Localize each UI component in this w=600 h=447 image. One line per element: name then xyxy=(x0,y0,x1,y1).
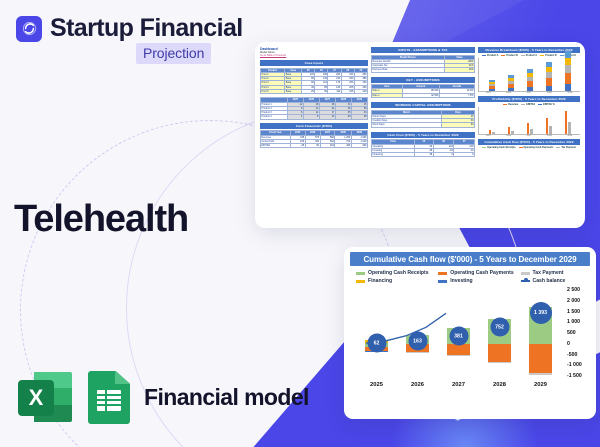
bar xyxy=(546,118,552,134)
revenue-chart-bars xyxy=(478,58,580,92)
chart-x-axis: 2025 2026 2027 2028 2029 xyxy=(356,382,561,388)
legend-item-tax-payment: Tax Payment xyxy=(521,270,588,276)
x-tick: 2028 xyxy=(480,382,519,388)
cumulative-mini-legend: Operating Cash Receipts Operating Cash P… xyxy=(478,146,580,149)
segment-tax-payment xyxy=(488,362,511,363)
table-row: Rate 242 5007.5% xyxy=(372,93,475,97)
data-label-2025: 62 xyxy=(367,334,386,353)
cash-balance-line xyxy=(356,287,456,379)
panel-title-cash-flow-statement: Cash Flow ($'000) - 5 Years to December … xyxy=(371,132,475,138)
cumulative-cashflow-card: Cumulative Cash flow ($'000) - 5 Years t… xyxy=(344,247,596,419)
legend-item-investing: Investing xyxy=(438,278,520,284)
brand-name: Startup Financial xyxy=(50,14,243,43)
y-tick: 2 000 xyxy=(567,298,590,304)
promo-slide: Startup Financial Projection Telehealth … xyxy=(0,0,600,447)
brand-lockup: Startup Financial xyxy=(16,14,243,43)
table-row: Discount Rate12% xyxy=(372,68,475,72)
legend-item-cash-balance: Cash balance xyxy=(521,278,588,284)
table-row: EBITDA-2560210430690 xyxy=(261,144,368,148)
segment-operating-payments xyxy=(529,344,552,372)
working-capital-table: MetricDays Debtor Days45 Creditor Days30… xyxy=(371,110,475,128)
panel-title-working-capital: WORKING CAPITAL ASSUMPTIONS xyxy=(371,102,475,108)
key-assumptions-table: ItemAmountGrowth Rate 185 00010.0% Rate … xyxy=(371,84,475,98)
footer-label: Financial model xyxy=(144,384,309,411)
y-tick: 1 000 xyxy=(567,319,590,325)
legend-item: Tax Payment xyxy=(556,146,576,149)
google-sheets-icon xyxy=(86,368,132,426)
legend-item: Product D xyxy=(540,54,556,57)
bar xyxy=(546,62,552,91)
x-tick: 2027 xyxy=(439,382,478,388)
legend-item: Product B xyxy=(501,54,517,57)
bar xyxy=(489,130,495,134)
legend-item-operating-cash-receipts: Operating Cash Receipts xyxy=(356,270,438,276)
bar xyxy=(508,75,514,91)
toc-link[interactable]: Go to Table of Contents xyxy=(260,54,368,57)
y-tick: 1 500 xyxy=(567,309,590,315)
inputs-table: ProductCase2526272829 Prod 1Base12018026… xyxy=(260,68,368,95)
microsoft-excel-icon: X xyxy=(16,368,74,426)
legend-item: Product C xyxy=(521,54,537,57)
profitability-chart: Profitability ($'000) - 5 Years to Decem… xyxy=(478,96,580,137)
legend-item-operating-cash-payments: Operating Cash Payments xyxy=(438,270,520,276)
x-tick: 2026 xyxy=(398,382,437,388)
y-tick: -500 xyxy=(567,352,590,358)
profitability-chart-xaxis: 20252026 20272028 2029 xyxy=(478,135,580,137)
bar xyxy=(527,123,533,134)
panel-title-case-inputs: Case Inputs xyxy=(260,60,368,66)
bar xyxy=(489,80,495,91)
x-tick: 2029 xyxy=(521,382,560,388)
format-icons-row: X Financial model xyxy=(16,368,309,426)
legend-item: Operating Cash Receipts xyxy=(482,146,515,149)
data-label-2029: 1 393 xyxy=(530,302,552,324)
panel-title-profitability: Profitability ($'000) - 5 Years to Decem… xyxy=(478,96,580,102)
y-tick: -1 500 xyxy=(567,373,590,379)
bar xyxy=(508,127,514,134)
table-row: Financing9500 xyxy=(372,153,475,157)
chart-title: Cumulative Cash flow ($'000) - 5 Years t… xyxy=(350,252,590,266)
panel-title-inputs-assumptions: INPUTS - ASSUMPTIONS & TAX xyxy=(371,47,475,53)
cash-financials-table: Fiscal Year20252026202720282029 Revenue3… xyxy=(260,130,368,148)
legend-item: Operating Cash Payments xyxy=(519,146,554,149)
panel-title-key-assumptions: KEY - ASSUMPTIONS xyxy=(371,77,475,83)
data-label-2026: 163 xyxy=(408,332,427,351)
legend-item: Product A xyxy=(482,54,498,57)
chart-legend: Operating Cash Receipts Operating Cash P… xyxy=(356,270,588,284)
chart-y-axis: 2 500 2 000 1 500 1 000 500 0 -500 -1 00… xyxy=(564,287,590,379)
y-tick: 0 xyxy=(567,341,590,347)
y-tick: -1 000 xyxy=(567,362,590,368)
legend-item: EBITDA % xyxy=(538,103,555,106)
revenue-breakdown-chart: Revenue Breakdown ($'000) - 5 Years to D… xyxy=(478,47,580,94)
data-label-2028: 752 xyxy=(490,318,509,337)
cashflow-mini-table: Flow252627 Operating62101218 Investing-4… xyxy=(371,139,475,157)
cumulative-cashflow-mini-chart: Cumulative Cash flow ($'000) - 5 Years t… xyxy=(478,139,580,150)
assumptions-table: Model DriversValue Revenue Growth+28% Co… xyxy=(371,55,475,73)
y-tick: 2 500 xyxy=(567,287,590,293)
bar xyxy=(565,111,571,134)
table-row: Product 448142029 xyxy=(261,115,368,119)
secondary-grey-table: 20252026202720282029 Product 11218263445… xyxy=(260,97,368,119)
profitability-chart-legend: Revenue EBITDA EBITDA % xyxy=(478,103,580,106)
segment-operating-payments xyxy=(488,344,511,362)
dashboard-left-column: Dashboard Model Name Go to Table of Cont… xyxy=(260,47,368,189)
dashboard-screenshot-card: Dashboard Model Name Go to Table of Cont… xyxy=(255,42,585,228)
bar-column-2029 xyxy=(521,287,560,379)
panel-title-cumulative-cashflow: Cumulative Cash flow ($'000) - 5 Years t… xyxy=(478,139,580,145)
table-row: ItemAmountGrowth xyxy=(372,85,475,89)
bar xyxy=(527,69,533,91)
data-label-2027: 381 xyxy=(449,327,468,346)
table-row: Prod 5Base2560110165240 xyxy=(261,89,368,93)
legend-item: EBITDA xyxy=(521,103,535,106)
segment-tax-payment xyxy=(529,373,552,375)
swirl-e-logo-icon xyxy=(16,16,42,42)
chart-plot-area: 2 500 2 000 1 500 1 000 500 0 -500 -1 00… xyxy=(350,287,590,395)
revenue-chart-xaxis: 20252026 20272028 2029 xyxy=(478,92,580,94)
legend-item: Revenue xyxy=(503,103,518,106)
legend-item-financing: Financing xyxy=(356,278,438,284)
dashboard-middle-column: INPUTS - ASSUMPTIONS & TAX Model Drivers… xyxy=(371,47,475,189)
bar xyxy=(565,51,571,91)
x-tick: 2025 xyxy=(357,382,396,388)
dashboard-charts-column: Revenue Breakdown ($'000) - 5 Years to D… xyxy=(478,47,580,189)
panel-title-cash-financials: Cash Financials ($'000) xyxy=(260,123,368,129)
table-row: Stock Days60 xyxy=(372,123,475,127)
page-title: Telehealth xyxy=(14,198,188,241)
y-tick: 500 xyxy=(567,330,590,336)
profitability-chart-bars xyxy=(478,107,580,135)
brand-subtitle-badge: Projection xyxy=(136,43,211,64)
excel-x-glyph: X xyxy=(18,380,54,416)
